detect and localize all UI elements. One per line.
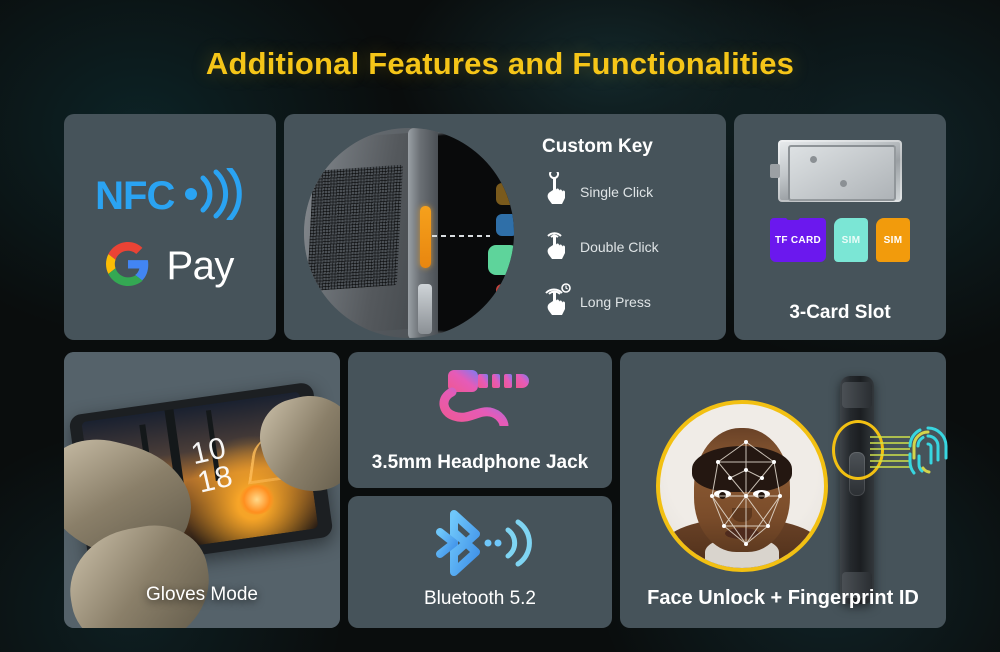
headphone-jack-caption: 3.5mm Headphone Jack: [348, 452, 612, 474]
google-g-icon: [106, 242, 150, 291]
power-button[interactable]: [418, 284, 432, 334]
custom-key-button[interactable]: [420, 206, 431, 268]
sos-app-icon[interactable]: SOS: [496, 284, 514, 306]
sim-card-chip-2: SIM: [876, 218, 910, 262]
hand-double-tap-icon: [542, 227, 572, 266]
card-slot-caption: 3-Card Slot: [734, 302, 946, 324]
panel-nfc: NFC Pay: [64, 114, 276, 340]
nfc-label: NFC: [95, 174, 174, 219]
app-shortcut-1[interactable]: [496, 152, 514, 174]
pay-label: Pay: [167, 244, 234, 289]
connector-dots: [432, 235, 490, 237]
fingerprint-icon: [898, 416, 958, 484]
lockscreen-clock: 10 18: [188, 434, 235, 497]
google-pay-logo: Pay: [64, 242, 276, 291]
panel-custom-key: SOS Custom Key Single Click: [284, 114, 726, 340]
sim-card-chip-1: SIM: [834, 218, 868, 262]
tray-dot: [810, 156, 817, 163]
custom-key-action-label: Long Press: [580, 294, 651, 310]
biometrics-caption: Face Unlock + Fingerprint ID: [620, 587, 946, 610]
panel-card-slot: TF CARD SIM SIM 3-Card Slot: [734, 114, 946, 340]
face-mesh-icon: [656, 400, 828, 572]
panel-gloves-mode: 10 18 Gloves Mode: [64, 352, 340, 628]
custom-key-title: Custom Key: [542, 136, 722, 158]
hand-long-press-icon: [542, 282, 572, 321]
app-shortcut-column: SOS: [492, 152, 514, 338]
custom-key-action-double[interactable]: Double Click: [542, 227, 722, 266]
face-mesh-overlay: [660, 404, 828, 572]
gloves-mode-caption: Gloves Mode: [64, 584, 340, 606]
app-shortcut-2[interactable]: [496, 183, 514, 205]
sos-label: SOS: [496, 284, 514, 306]
custom-key-photo: SOS: [294, 118, 534, 338]
tray-tab: [770, 164, 780, 178]
feature-grid-page: Additional Features and Functionalities …: [0, 0, 1000, 652]
sim-tray-icon: [778, 140, 902, 202]
headphone-jack-icon: [348, 364, 612, 426]
card-chip-row: TF CARD SIM SIM: [734, 218, 946, 262]
custom-key-info: Custom Key Single Click: [542, 136, 722, 337]
tf-card-chip: TF CARD: [770, 218, 826, 262]
hand-single-tap-icon: [542, 172, 572, 211]
custom-key-action-single[interactable]: Single Click: [542, 172, 722, 211]
app-shortcut-3[interactable]: [496, 214, 514, 236]
bluetooth-icon: [348, 510, 612, 576]
phone-speaker-mesh: [307, 165, 403, 292]
app-shortcut-6[interactable]: [496, 315, 514, 337]
tray-dot: [840, 180, 847, 187]
panel-headphone-jack: 3.5mm Headphone Jack: [348, 352, 612, 488]
panel-biometrics: Face Unlock + Fingerprint ID: [620, 352, 946, 628]
bluetooth-caption: Bluetooth 5.2: [348, 588, 612, 610]
custom-key-action-long[interactable]: Long Press: [542, 282, 722, 321]
nfc-wave-icon: [183, 168, 245, 225]
camera-icon: [318, 150, 330, 162]
phone-bumper: [842, 382, 872, 408]
walkie-talkie-app-icon[interactable]: [488, 245, 514, 275]
panel-bluetooth: Bluetooth 5.2: [348, 496, 612, 628]
campfire-glow: [237, 482, 277, 517]
phone-closeup-circle: SOS: [304, 128, 514, 338]
phone-side-icon: [840, 376, 874, 604]
custom-key-action-label: Single Click: [580, 184, 653, 200]
nfc-logo-row: NFC: [64, 168, 276, 225]
page-title: Additional Features and Functionalities: [0, 46, 1000, 82]
custom-key-action-label: Double Click: [580, 239, 659, 255]
